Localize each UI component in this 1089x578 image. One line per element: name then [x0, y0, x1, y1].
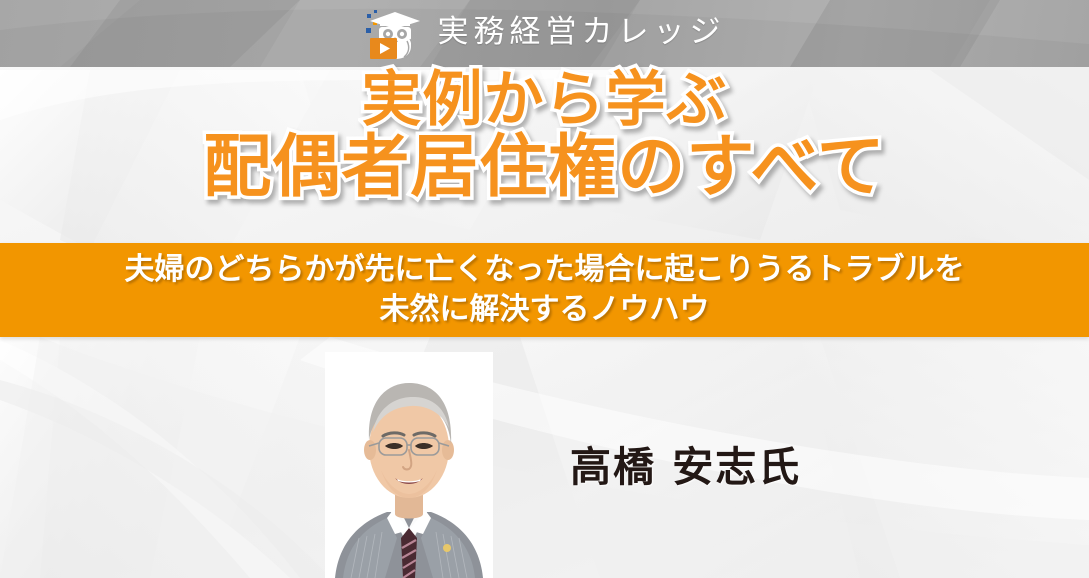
- seminar-banner: 実務経営カレッジ 実例から学ぶ 配偶者居住権のすべて 夫婦のどちらかが先に亡くな…: [0, 0, 1089, 578]
- speaker-portrait: [325, 352, 493, 578]
- subtitle-line-1: 夫婦のどちらかが先に亡くなった場合に起こりうるトラブルを: [125, 250, 965, 290]
- owl-graduation-cap-play-icon: [364, 8, 426, 60]
- title-line-1: 実例から学ぶ: [0, 70, 1089, 131]
- page-title: 実例から学ぶ 配偶者居住権のすべて: [0, 70, 1089, 203]
- header-band: 実務経営カレッジ: [0, 0, 1089, 67]
- speaker-name: 高橋 安志氏: [570, 433, 801, 493]
- subtitle-bar: 夫婦のどちらかが先に亡くなった場合に起こりうるトラブルを 未然に解決するノウハウ: [0, 243, 1089, 337]
- brand-name: 実務経営カレッジ: [438, 17, 726, 50]
- subtitle-line-2: 未然に解決するノウハウ: [380, 290, 710, 330]
- brand-logo: 実務経営カレッジ: [0, 0, 1089, 67]
- title-line-2: 配偶者居住権のすべて: [0, 133, 1089, 202]
